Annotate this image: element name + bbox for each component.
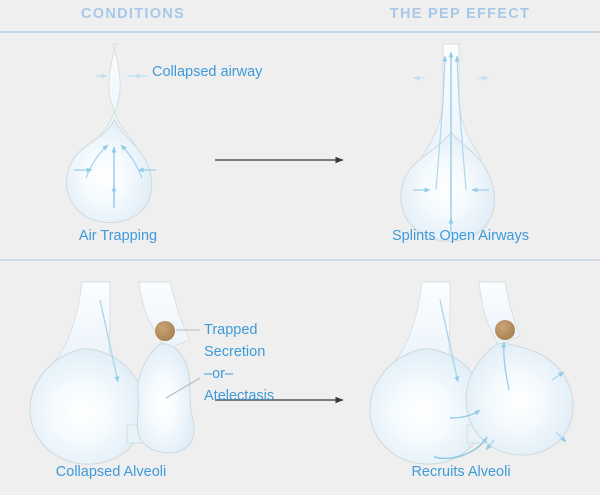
airflow-right-curve bbox=[121, 145, 142, 178]
expand-arrow-bl bbox=[486, 440, 494, 450]
caption-splints-open-airways: Splints Open Airways bbox=[368, 228, 553, 244]
inflow-arrow-left-sac-open bbox=[440, 300, 458, 382]
inflow-arrow-left-sac bbox=[100, 300, 118, 382]
trapped-secretion-blob bbox=[155, 321, 175, 341]
collapsed-airway-neck bbox=[93, 44, 135, 145]
left-alveolus-sac-open bbox=[370, 349, 485, 464]
left-alveolus-sac bbox=[30, 349, 145, 464]
expand-arrow-br bbox=[556, 432, 566, 442]
label-collapsed-airway: Collapsed airway bbox=[152, 64, 262, 80]
illustration-collapsed-alveoli bbox=[30, 282, 200, 464]
pep-effect-diagram: CONDITIONS THE PEP EFFECT bbox=[0, 0, 600, 495]
callout-line-1: Trapped bbox=[204, 319, 274, 341]
right-alveolus-sac-collapsed bbox=[137, 344, 194, 453]
airflow-left-curve bbox=[86, 145, 108, 178]
callout-line-4: Atelectasis bbox=[204, 385, 274, 407]
alveolus-sac-open bbox=[401, 132, 495, 241]
illustration-splints-open bbox=[401, 44, 495, 241]
illustration-layer bbox=[0, 0, 600, 495]
secretion-blob-mobilized bbox=[495, 320, 515, 340]
leader-line-atelectasis bbox=[166, 378, 200, 398]
column-header-conditions: CONDITIONS bbox=[33, 6, 233, 22]
illustration-air-trapping bbox=[67, 44, 156, 222]
caption-recruits-alveoli: Recruits Alveoli bbox=[372, 464, 550, 480]
collateral-flow-arrow bbox=[434, 437, 487, 458]
collateral-channel-open bbox=[467, 425, 497, 443]
alveolus-sac-collapsed bbox=[67, 120, 152, 222]
illustration-recruits-alveoli bbox=[370, 282, 573, 464]
right-alveolus-neck-open bbox=[479, 282, 520, 346]
callout-line-2: Secretion bbox=[204, 341, 274, 363]
recruit-upflow bbox=[504, 342, 509, 390]
divider-top bbox=[0, 31, 600, 33]
caption-collapsed-alveoli: Collapsed Alveoli bbox=[18, 464, 204, 480]
left-alveolus-neck bbox=[50, 282, 110, 372]
left-alveolus-neck-open bbox=[390, 282, 450, 372]
caption-air-trapping: Air Trapping bbox=[28, 228, 208, 244]
callout-trapped-secretion: Trapped Secretion –or– Atelectasis bbox=[204, 319, 274, 407]
right-alveolus-sac-open bbox=[466, 343, 573, 455]
right-alveolus-neck-collapsed bbox=[139, 282, 190, 350]
expand-arrow-tr bbox=[552, 372, 564, 380]
callout-line-3: –or– bbox=[204, 363, 274, 385]
collateral-channel-collapsed bbox=[127, 425, 163, 443]
collateral-flow-arrow-2 bbox=[450, 410, 480, 418]
openflow-left bbox=[436, 56, 445, 190]
divider-middle bbox=[0, 259, 600, 261]
column-header-pep-effect: THE PEP EFFECT bbox=[360, 6, 560, 22]
openflow-right bbox=[457, 56, 466, 190]
open-airway-neck bbox=[421, 44, 481, 160]
